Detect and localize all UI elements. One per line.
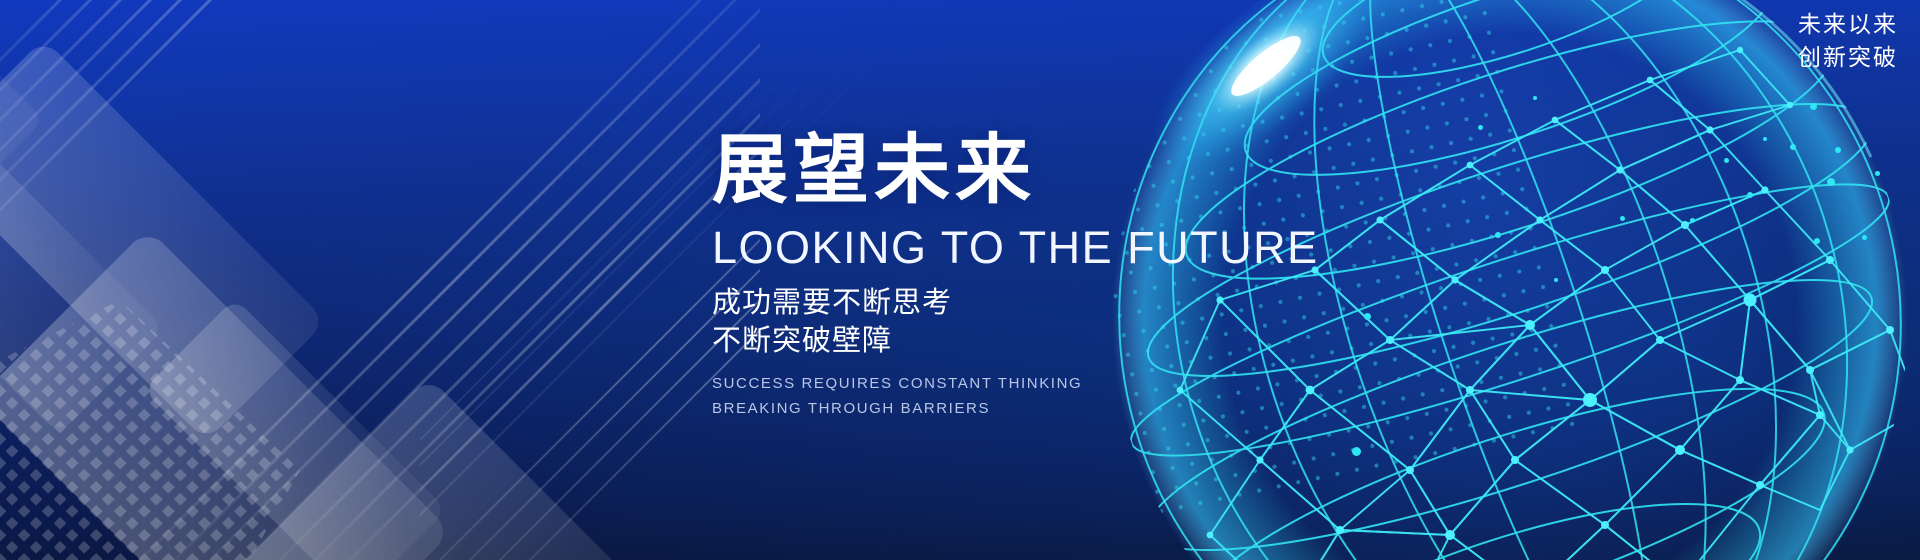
corner-slogan-line-1: 未来以来: [1798, 8, 1898, 41]
tagline-chinese-line-2: 不断突破壁障: [712, 322, 1372, 360]
subtitle-english: LOOKING TO THE FUTURE: [712, 224, 1372, 271]
corner-slogan-line-2: 创新突破: [1798, 41, 1898, 74]
tagline-english: SUCCESS REQUIRES CONSTANT THINKING BREAK…: [712, 371, 1372, 421]
tagline-english-line-2: BREAKING THROUGH BARRIERS: [712, 396, 1372, 421]
page-title: 展望未来: [712, 132, 1372, 210]
tagline-chinese: 成功需要不断思考 不断突破壁障: [712, 284, 1372, 361]
corner-slogan: 未来以来 创新突破: [1798, 8, 1898, 73]
banner-text-block: 展望未来 LOOKING TO THE FUTURE 成功需要不断思考 不断突破…: [712, 132, 1372, 422]
tagline-english-line-1: SUCCESS REQUIRES CONSTANT THINKING: [712, 371, 1372, 396]
promo-banner: 展望未来 LOOKING TO THE FUTURE 成功需要不断思考 不断突破…: [0, 0, 1920, 560]
tagline-chinese-line-1: 成功需要不断思考: [712, 284, 1372, 322]
